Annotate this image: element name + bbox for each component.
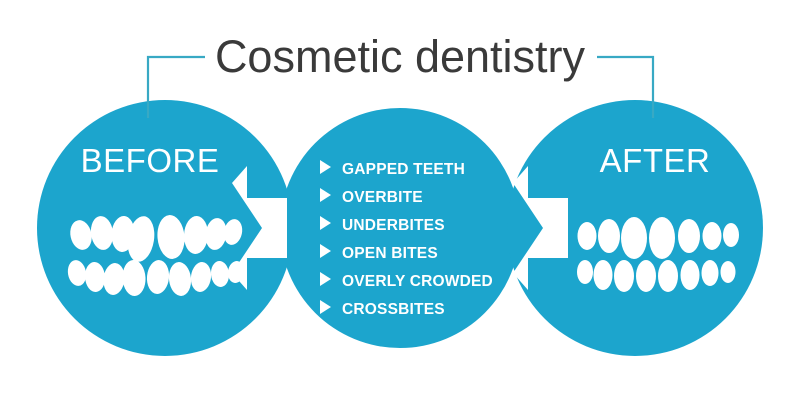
after-label: AFTER — [600, 142, 711, 179]
infographic-canvas: Cosmetic dentistry BEFORE AFTER GAPPED T… — [0, 0, 800, 400]
list-item-label: GAPPED TEETH — [342, 161, 465, 178]
list-item-label: OPEN BITES — [342, 245, 438, 262]
list-item[interactable]: GAPPED TEETH — [320, 160, 465, 178]
list-item-label: OVERBITE — [342, 189, 423, 206]
list-item-label: OVERLY CROWDED — [342, 273, 493, 290]
list-item-label: UNDERBITES — [342, 217, 445, 234]
before-label: BEFORE — [81, 142, 220, 179]
page-title: Cosmetic dentistry — [215, 31, 586, 82]
list-item[interactable]: OVERLY CROWDED — [320, 272, 493, 290]
list-item-label: CROSSBITES — [342, 301, 445, 318]
cosmetic-dentistry-infographic: Cosmetic dentistry BEFORE AFTER GAPPED T… — [0, 0, 800, 400]
